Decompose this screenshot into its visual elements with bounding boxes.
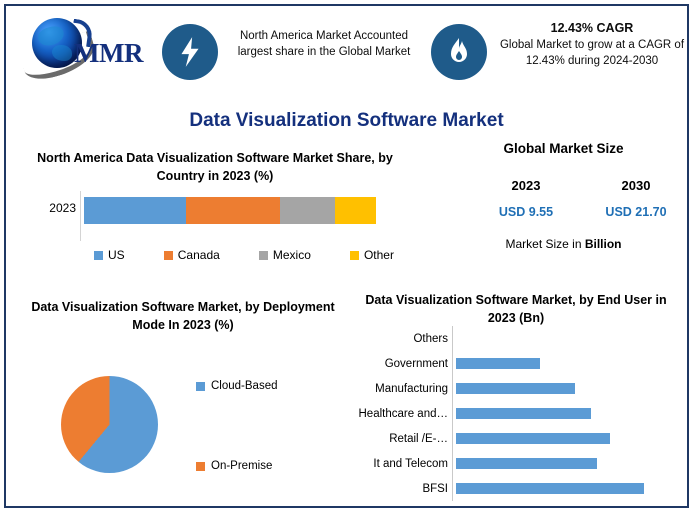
global-market-value-2023: USD 9.55 xyxy=(471,205,581,219)
global-market-unit-note: Market Size in Billion xyxy=(436,237,691,251)
end-user-chart-title: Data Visualization Software Market, by E… xyxy=(351,291,681,327)
lightning-bolt-icon xyxy=(162,24,218,80)
header-badge-1-text: North America Market Accounted largest s… xyxy=(226,28,422,60)
end-user-category-label: Others xyxy=(356,333,452,345)
cagr-description: Global Market to grow at a CAGR of 12.43… xyxy=(500,39,684,67)
end-user-category-label: Manufacturing xyxy=(356,383,452,395)
end-user-category-label: Healthcare and… xyxy=(356,408,452,420)
pie-chart-title: Data Visualization Software Market, by D… xyxy=(28,298,338,334)
page-title: Data Visualization Software Market xyxy=(6,110,687,132)
unit-note-unit: Billion xyxy=(585,237,622,251)
cagr-headline: 12.43% CAGR xyxy=(494,20,690,36)
end-user-row: Manufacturing xyxy=(356,376,676,401)
legend-label: On-Premise xyxy=(211,460,272,472)
end-user-bar xyxy=(456,433,610,444)
flame-icon xyxy=(431,24,487,80)
na-bar-segment-mexico xyxy=(280,197,335,224)
infographic-canvas: MMR North America Market Accounted large… xyxy=(6,6,687,506)
na-legend-item-mexico: Mexico xyxy=(259,248,311,262)
end-user-row: Healthcare and… xyxy=(356,401,676,426)
infographic-frame: MMR North America Market Accounted large… xyxy=(4,4,689,508)
na-bar-segment-canada xyxy=(186,197,279,224)
na-chart-category-label: 2023 xyxy=(22,201,76,215)
na-chart-axis xyxy=(80,191,81,241)
pie-legend-on-premise: On-Premise xyxy=(196,460,272,472)
end-user-row: Government xyxy=(356,351,676,376)
legend-swatch xyxy=(350,251,359,260)
end-user-category-label: Retail /E-… xyxy=(356,433,452,445)
legend-swatch xyxy=(164,251,173,260)
legend-label: Cloud-Based xyxy=(211,380,277,392)
end-user-row: Others xyxy=(356,326,676,351)
na-chart-legend: USCanadaMexicoOther xyxy=(94,248,394,262)
na-bar-segment-us xyxy=(84,197,186,224)
end-user-category-label: BFSI xyxy=(356,483,452,495)
global-market-title: Global Market Size xyxy=(436,141,691,156)
unit-note-prefix: Market Size in xyxy=(505,237,584,251)
global-market-year-2030: 2030 xyxy=(581,178,691,193)
legend-label: Mexico xyxy=(273,248,311,262)
end-user-bar xyxy=(456,383,575,394)
legend-swatch xyxy=(196,382,205,391)
deployment-mode-pie xyxy=(61,376,158,473)
end-user-bar xyxy=(456,358,540,369)
end-user-row: It and Telecom xyxy=(356,451,676,476)
legend-swatch xyxy=(94,251,103,260)
legend-label: Other xyxy=(364,248,394,262)
end-user-bar xyxy=(456,408,591,419)
na-bar-segment-other xyxy=(335,197,376,224)
global-market-year-2023: 2023 xyxy=(471,178,581,193)
end-user-bar xyxy=(456,458,597,469)
legend-label: US xyxy=(108,248,125,262)
header-badge-2-text: 12.43% CAGR Global Market to grow at a C… xyxy=(494,20,690,69)
end-user-plot-area: OthersGovernmentManufacturingHealthcare … xyxy=(356,326,676,501)
na-legend-item-us: US xyxy=(94,248,125,262)
end-user-category-label: It and Telecom xyxy=(356,458,452,470)
company-logo: MMR xyxy=(20,14,150,76)
pie-legend-cloud-based: Cloud-Based xyxy=(196,380,277,392)
global-market-value-2030: USD 21.70 xyxy=(581,205,691,219)
legend-swatch xyxy=(259,251,268,260)
legend-label: Canada xyxy=(178,248,220,262)
na-stacked-bar xyxy=(84,197,376,224)
logo-text: MMR xyxy=(74,38,143,69)
na-chart-title: North America Data Visualization Softwar… xyxy=(30,149,400,185)
end-user-category-label: Government xyxy=(356,358,452,370)
na-legend-item-canada: Canada xyxy=(164,248,220,262)
end-user-row: Retail /E-… xyxy=(356,426,676,451)
na-legend-item-other: Other xyxy=(350,248,394,262)
end-user-bar xyxy=(456,483,644,494)
legend-swatch xyxy=(196,462,205,471)
end-user-row: BFSI xyxy=(356,476,676,501)
